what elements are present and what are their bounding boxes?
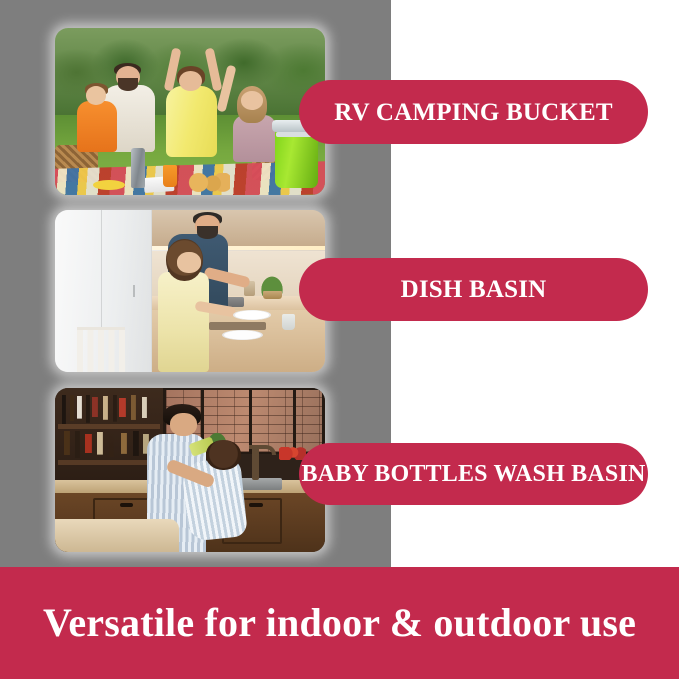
kitchen-island-counter xyxy=(55,519,179,552)
banner-headline: Versatile for indoor & outdoor use xyxy=(43,603,636,643)
mother-yellow-cardigan xyxy=(166,86,217,156)
family-picnic-outdoors-photo xyxy=(55,28,325,195)
picnic-scene-illustration xyxy=(55,28,325,195)
refrigerator-handle xyxy=(133,285,135,298)
refrigerator-door-seam xyxy=(101,210,102,336)
shelf-board-2 xyxy=(58,460,161,465)
girl-yellow-dress xyxy=(158,272,209,372)
drying-mat xyxy=(209,322,266,330)
cabinet-handle-left xyxy=(120,503,134,507)
badge-baby-bottles-wash-basin: BABY BOTTLES WASH BASIN xyxy=(299,443,648,505)
plant-pot xyxy=(263,291,282,299)
kitchen-washing-dishes-photo xyxy=(55,210,325,372)
cabinet-handle-right xyxy=(249,503,263,507)
older-child-head xyxy=(241,91,263,109)
younger-child-head xyxy=(86,86,106,104)
father-beard xyxy=(197,226,218,239)
thermos-flask xyxy=(131,148,146,188)
mother-face xyxy=(170,413,197,436)
badge-label: BABY BOTTLES WASH BASIN xyxy=(301,462,645,486)
orange-juice-cup xyxy=(163,165,177,187)
shelf-jars-row xyxy=(60,431,157,461)
drinking-glass xyxy=(282,314,296,330)
mother-holding-baby-kitchen-photo xyxy=(55,388,325,552)
badge-rv-camping-bucket: RV CAMPING BUCKET xyxy=(299,80,648,144)
baby-hair xyxy=(206,440,241,470)
picnic-food xyxy=(185,173,231,191)
badge-label: DISH BASIN xyxy=(401,277,547,302)
mother-baby-scene-illustration xyxy=(55,388,325,552)
shelf-bottles-row xyxy=(60,395,157,425)
window-mullion-2 xyxy=(249,388,252,454)
badge-label: RV CAMPING BUCKET xyxy=(334,100,612,125)
younger-child-orange-shirt xyxy=(77,101,118,151)
product-feature-infographic: RV CAMPING BUCKET xyxy=(0,0,679,679)
badge-dish-basin: DISH BASIN xyxy=(299,258,648,321)
faucet-body xyxy=(252,447,258,480)
window-mullion-3 xyxy=(293,388,296,454)
girl-face xyxy=(177,252,201,273)
bottom-headline-banner: Versatile for indoor & outdoor use xyxy=(0,567,679,679)
shelf-board-1 xyxy=(58,424,161,429)
yellow-plate xyxy=(93,180,125,190)
dishwashing-scene-illustration xyxy=(55,210,325,372)
white-chair xyxy=(77,327,126,372)
